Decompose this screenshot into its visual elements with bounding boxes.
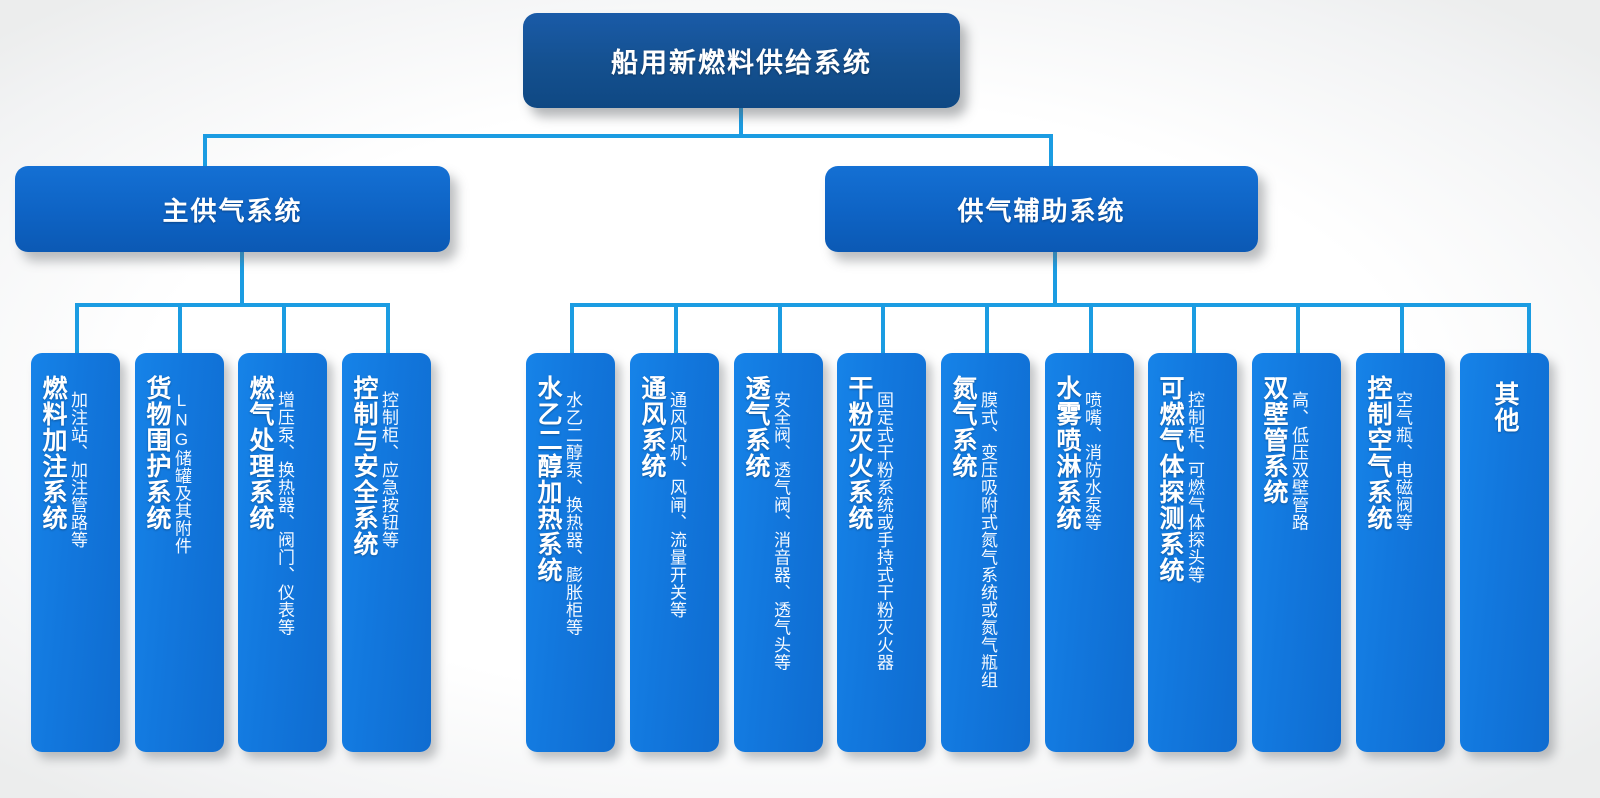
node-leaf-label: 控制空气系统 — [1365, 375, 1390, 531]
connector-branch-0-child-1 — [178, 303, 182, 353]
node-leaf-sublabel: 安全阀、透气阀、消音器、透气头等 — [772, 391, 789, 671]
connector-level1-bus — [203, 134, 1053, 138]
node-root[interactable]: 船用新燃料供给系统 — [523, 13, 960, 108]
node-leaf-label: 燃气处理系统 — [247, 375, 272, 531]
connector-branch-1-child-5 — [1089, 303, 1093, 353]
node-leaf-glycol-water-heating[interactable]: 水乙二醇加热系统 水乙二醇泵、换热器、膨胀柜等 — [526, 353, 615, 752]
node-leaf-gas-processing[interactable]: 燃气处理系统 增压泵、换热器、阀门、仪表等 — [238, 353, 327, 752]
node-leaf-double-wall-pipe[interactable]: 双壁管系统 高、低压双壁管路 — [1252, 353, 1341, 752]
node-leaf-control-air[interactable]: 控制空气系统 空气瓶、电磁阀等 — [1356, 353, 1445, 752]
connector-branch-1-bus — [570, 303, 1531, 307]
connector-branch-1-child-9 — [1527, 303, 1531, 353]
connector-branch-1-child-3 — [881, 303, 885, 353]
connector-branch-0-child-2 — [282, 303, 286, 353]
connector-branch-0-child-3 — [386, 303, 390, 353]
node-leaf-label: 水乙二醇加热系统 — [535, 375, 560, 583]
node-leaf-cargo-containment[interactable]: 货物围护系统 LNG储罐及其附件 — [135, 353, 224, 752]
node-leaf-gas-detection[interactable]: 可燃气体探测系统 控制柜、可燃气体探头等 — [1148, 353, 1237, 752]
connector-branch-0-bus — [75, 303, 386, 307]
connector-root-stem — [739, 108, 743, 136]
node-leaf-other[interactable]: 其他 — [1460, 353, 1549, 752]
connector-branch-1-child-6 — [1192, 303, 1196, 353]
node-leaf-venting[interactable]: 透气系统 安全阀、透气阀、消音器、透气头等 — [734, 353, 823, 752]
node-leaf-label: 水雾喷淋系统 — [1054, 375, 1079, 531]
node-leaf-sublabel: 控制柜、应急按钮等 — [380, 391, 397, 549]
node-leaf-sublabel: 膜式、变压吸附式氮气系统或氮气瓶组 — [979, 391, 996, 689]
node-leaf-dry-powder-firefighting[interactable]: 干粉灭火系统 固定式干粉系统或手持式干粉灭火器 — [837, 353, 926, 752]
node-branch-1-label: 供气辅助系统 — [957, 191, 1125, 228]
connector-drop-branch-1 — [1049, 134, 1053, 166]
node-leaf-label: 干粉灭火系统 — [846, 375, 871, 531]
node-leaf-water-mist-spray[interactable]: 水雾喷淋系统 喷嘴、消防水泵等 — [1045, 353, 1134, 752]
node-leaf-sublabel: 通风风机、风闸、流量开关等 — [668, 391, 685, 619]
connector-branch-1-child-0 — [570, 303, 574, 353]
node-branch-main-supply[interactable]: 主供气系统 — [15, 166, 450, 252]
node-leaf-sublabel: 增压泵、换热器、阀门、仪表等 — [276, 391, 293, 636]
connector-branch-0-stem — [240, 252, 244, 305]
node-leaf-nitrogen[interactable]: 氮气系统 膜式、变压吸附式氮气系统或氮气瓶组 — [941, 353, 1030, 752]
node-leaf-sublabel: 喷嘴、消防水泵等 — [1083, 391, 1100, 531]
node-leaf-sublabel: 空气瓶、电磁阀等 — [1394, 391, 1411, 531]
node-leaf-sublabel: LNG储罐及其附件 — [173, 391, 190, 555]
node-leaf-sublabel: 加注站、加注管路等 — [69, 391, 86, 549]
node-leaf-label: 透气系统 — [743, 375, 768, 479]
connector-branch-1-stem — [1053, 252, 1057, 305]
node-leaf-sublabel: 控制柜、可燃气体探头等 — [1186, 391, 1203, 584]
node-leaf-label: 货物围护系统 — [144, 375, 169, 531]
node-leaf-ventilation[interactable]: 通风系统 通风风机、风闸、流量开关等 — [630, 353, 719, 752]
connector-branch-0-child-0 — [75, 303, 79, 353]
node-leaf-label: 燃料加注系统 — [40, 375, 65, 531]
connector-branch-1-child-8 — [1400, 303, 1404, 353]
connector-branch-1-child-7 — [1296, 303, 1300, 353]
node-leaf-label: 控制与安全系统 — [351, 375, 376, 557]
node-branch-0-label: 主供气系统 — [162, 191, 302, 228]
node-leaf-fuel-bunkering[interactable]: 燃料加注系统 加注站、加注管路等 — [31, 353, 120, 752]
node-leaf-control-safety[interactable]: 控制与安全系统 控制柜、应急按钮等 — [342, 353, 431, 752]
node-root-label: 船用新燃料供给系统 — [611, 41, 872, 80]
node-leaf-label: 可燃气体探测系统 — [1157, 375, 1182, 583]
node-leaf-label: 其他 — [1492, 381, 1517, 433]
connector-branch-1-child-1 — [674, 303, 678, 353]
node-leaf-label: 双壁管系统 — [1261, 375, 1286, 505]
node-leaf-label: 氮气系统 — [950, 375, 975, 479]
connector-drop-branch-0 — [203, 134, 207, 166]
node-leaf-sublabel: 高、低压双壁管路 — [1290, 391, 1307, 531]
connector-branch-1-child-4 — [985, 303, 989, 353]
node-leaf-sublabel: 水乙二醇泵、换热器、膨胀柜等 — [564, 391, 581, 636]
node-leaf-label: 通风系统 — [639, 375, 664, 479]
node-branch-auxiliary-supply[interactable]: 供气辅助系统 — [825, 166, 1258, 252]
diagram-canvas: 船用新燃料供给系统 主供气系统 供气辅助系统 燃料加注系统 加注站、加注管路等 … — [0, 0, 1600, 798]
connector-branch-1-child-2 — [778, 303, 782, 353]
node-leaf-sublabel: 固定式干粉系统或手持式干粉灭火器 — [875, 391, 892, 671]
